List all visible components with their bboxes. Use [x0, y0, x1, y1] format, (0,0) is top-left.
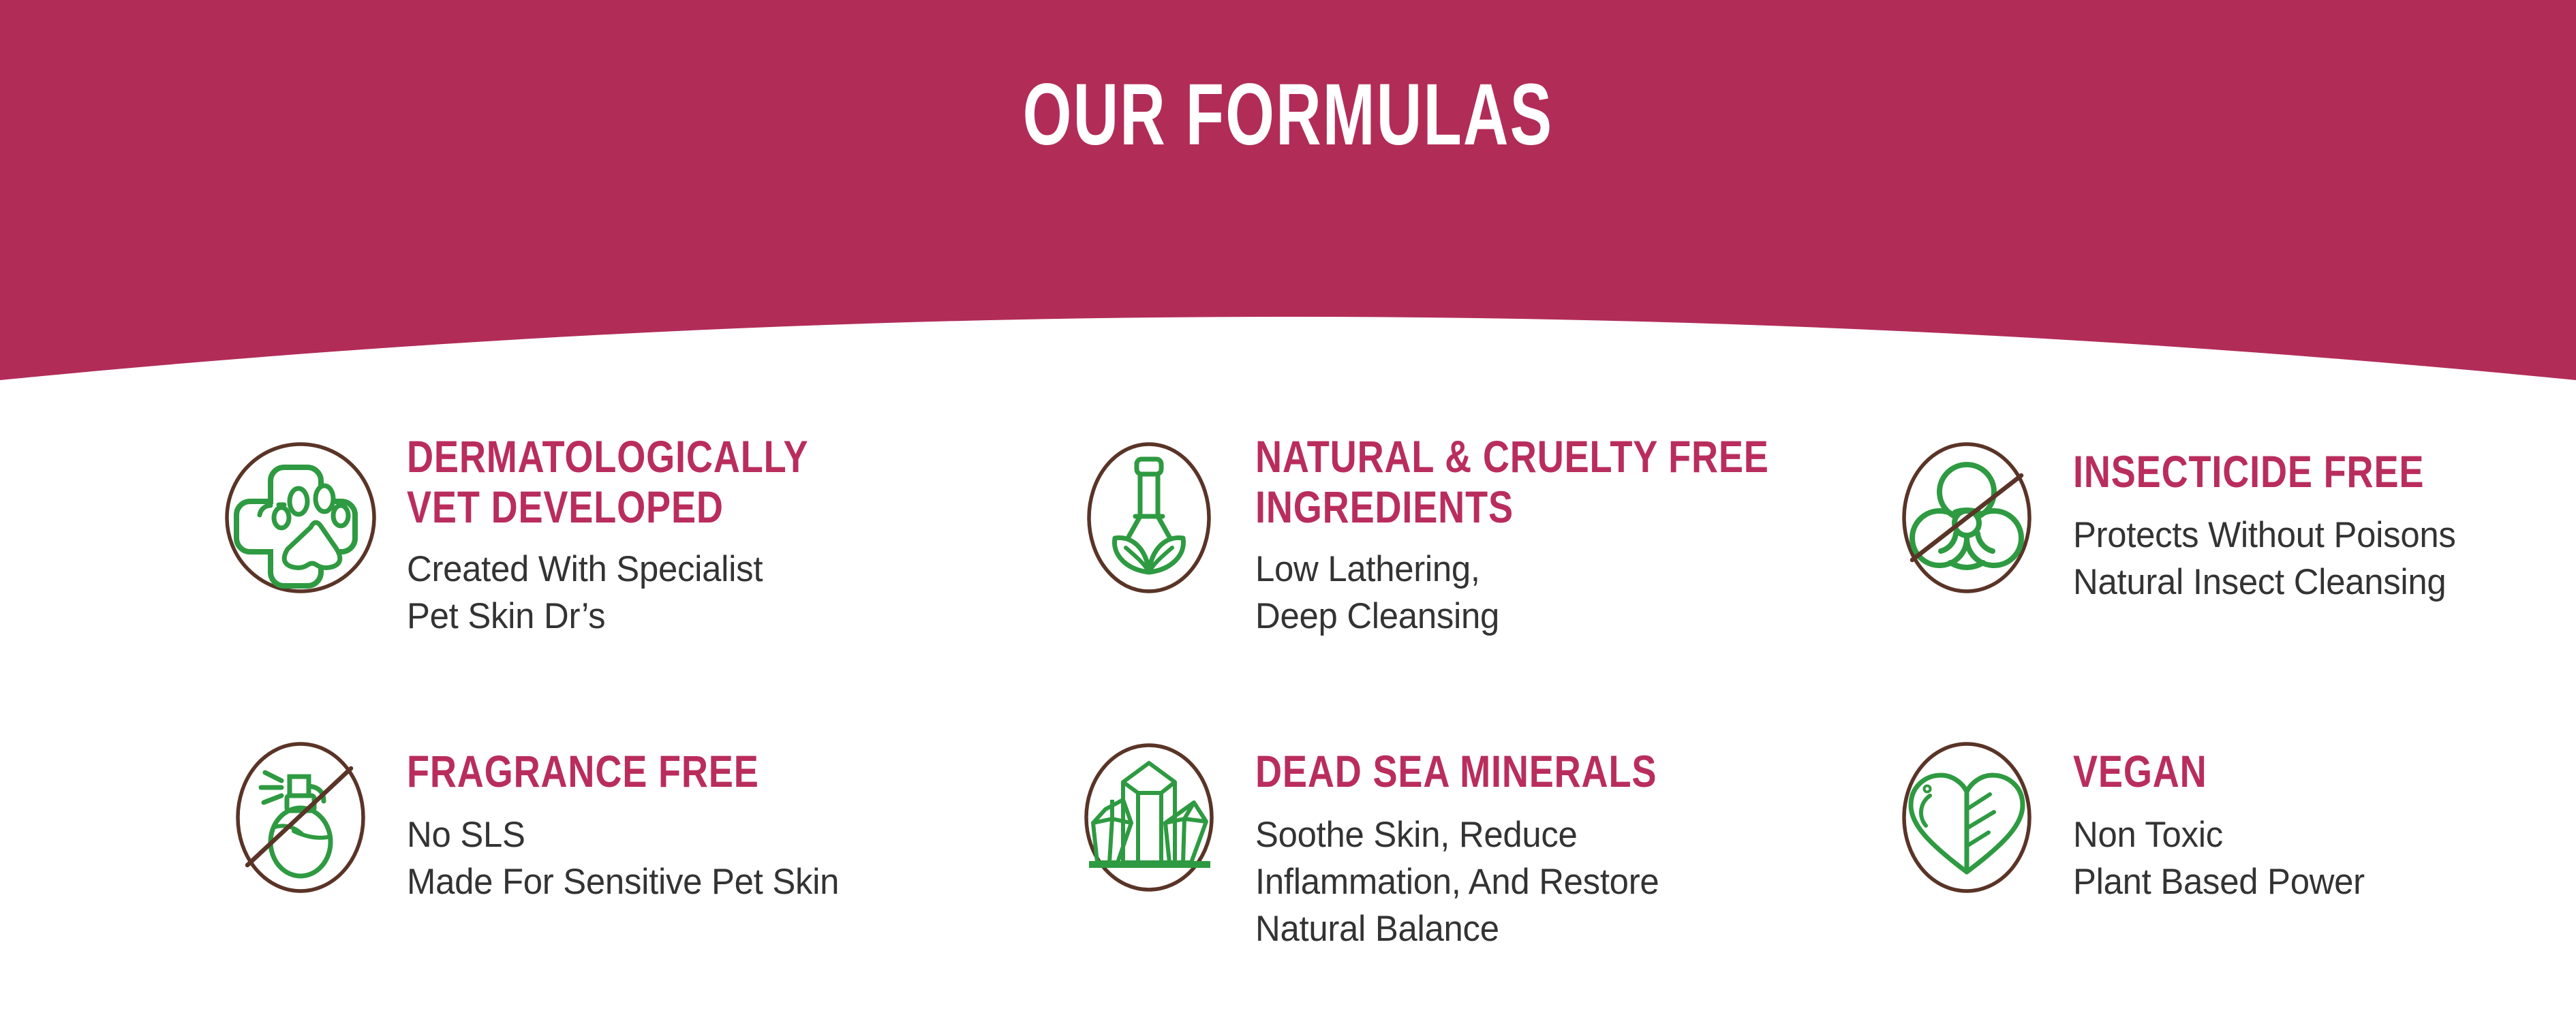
bottle-leaves-icon — [1070, 439, 1228, 597]
feature-description: No SLS Made For Sensitive Pet Skin — [407, 812, 839, 906]
feature-text: FRAGRANCE FREE No SLS Made For Sensitive… — [407, 723, 857, 906]
feature-item-natural-cruelty-free-ingredients: NATURAL & CRUELTY FREE INGREDIENTS Low L… — [1070, 424, 1888, 723]
header-band — [0, 0, 2576, 395]
heart-leaf-icon — [1888, 738, 2046, 896]
feature-title: FRAGRANCE FREE — [407, 747, 776, 797]
formulas-page: OUR FORMULAS — [0, 0, 2576, 1030]
feature-item-vegan: VEGAN Non Toxic Plant Based Power — [1888, 723, 2576, 953]
feature-item-dead-sea-minerals: DEAD SEA MINERALS Soothe Skin, Reduce In… — [1070, 723, 1888, 953]
header-curve-shape — [0, 0, 2576, 395]
feature-description: Soothe Skin, Reduce Inflammation, And Re… — [1255, 812, 1726, 953]
feature-text: DEAD SEA MINERALS Soothe Skin, Reduce In… — [1255, 723, 1745, 953]
feature-description: Created With Specialist Pet Skin Dr’s — [407, 546, 877, 640]
page-title: OUR FORMULAS — [361, 72, 2215, 159]
feature-text: INSECTICIDE FREE Protects Without Poison… — [2073, 424, 2501, 606]
feature-title: DEAD SEA MINERALS — [1255, 747, 1657, 797]
feature-text: VEGAN Non Toxic Plant Based Power — [2073, 723, 2377, 906]
feature-description: Protects Without Poisons Natural Insect … — [2073, 512, 2484, 606]
feature-title: VEGAN — [2073, 747, 2322, 797]
spray-bottle-crossed-out-icon — [221, 738, 380, 896]
paw-medical-cross-icon — [221, 439, 380, 597]
feature-title: INSECTICIDE FREE — [2073, 447, 2424, 497]
feature-title: NATURAL & CRUELTY FREE INGREDIENTS — [1255, 432, 1769, 533]
feature-description: Non Toxic Plant Based Power — [2073, 812, 2365, 906]
crystals-minerals-icon — [1070, 738, 1228, 896]
feature-item-fragrance-free: FRAGRANCE FREE No SLS Made For Sensitive… — [221, 723, 1070, 953]
features-grid: DERMATOLOGICALLY VET DEVELOPED Created W… — [0, 424, 2576, 953]
feature-text: DERMATOLOGICALLY VET DEVELOPED Created W… — [407, 424, 897, 640]
feature-item-dermatologically-vet-developed: DERMATOLOGICALLY VET DEVELOPED Created W… — [221, 424, 1070, 723]
feature-title: DERMATOLOGICALLY VET DEVELOPED — [407, 432, 808, 533]
feature-item-insecticide-free: INSECTICIDE FREE Protects Without Poison… — [1888, 424, 2576, 723]
biohazard-crossed-out-icon — [1888, 439, 2046, 597]
feature-text: NATURAL & CRUELTY FREE INGREDIENTS Low L… — [1255, 424, 1882, 640]
feature-description: Low Lathering, Deep Cleansing — [1255, 546, 1856, 640]
